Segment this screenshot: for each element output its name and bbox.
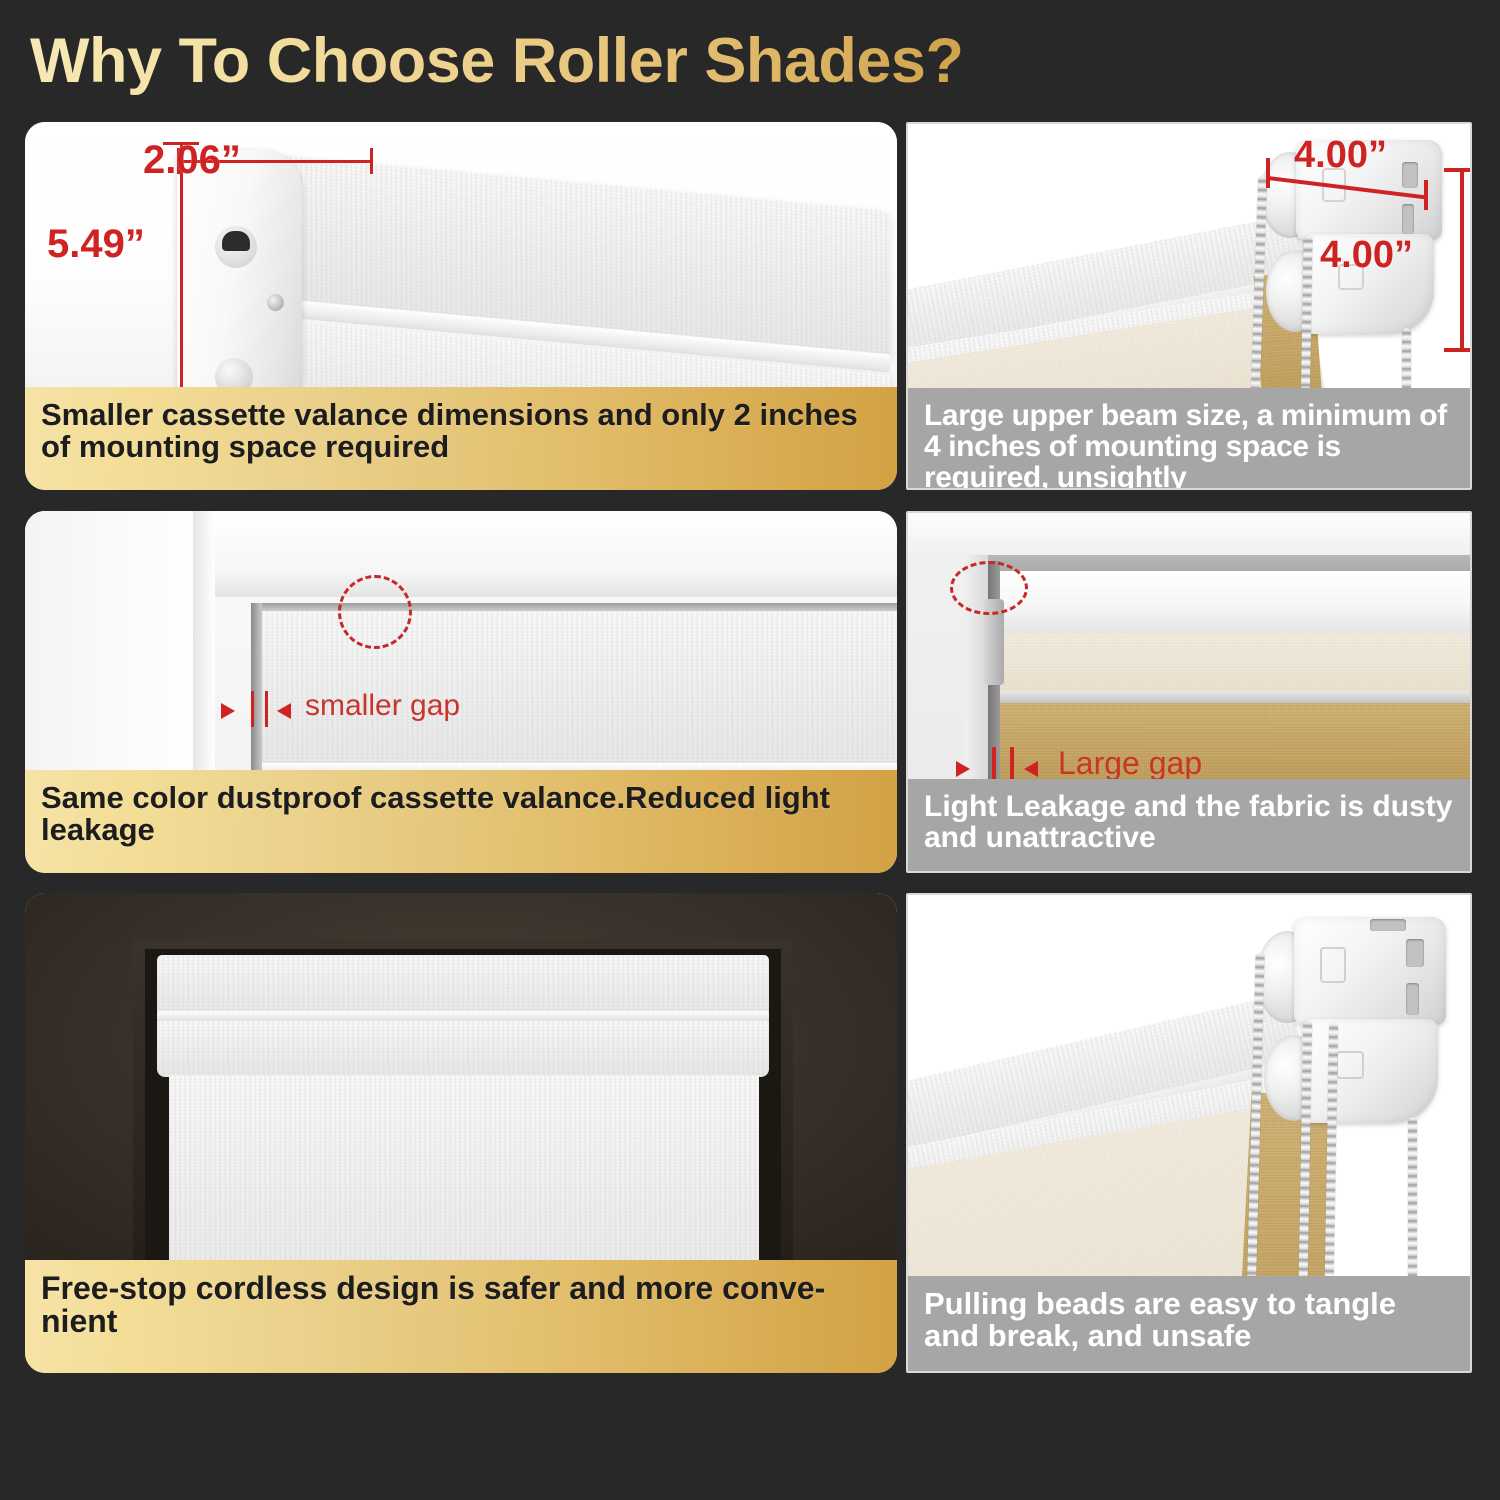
bracket-slot-2: [1402, 204, 1414, 234]
panel-1-caption: Smaller cassette valance dimensions and …: [25, 387, 897, 490]
gap-arrow-left: [956, 761, 970, 777]
gap-tick-b: [1010, 747, 1014, 779]
gap-tick-b: [265, 691, 268, 727]
panel-3-caption: Same color dustproof cassette valance.Re…: [25, 770, 897, 873]
panel-5-caption: Free-stop cordless design is safer and m…: [25, 1260, 897, 1373]
infographic-root: Why To Choose Roller Shades? 5.49”: [0, 0, 1500, 1500]
panel-1-photo: 5.49” 2.06”: [25, 122, 897, 387]
page-title: Why To Choose Roller Shades?: [30, 22, 1130, 100]
bracket-emboss-upper: [1320, 947, 1346, 983]
bracket-slot-3: [1370, 919, 1406, 931]
panel-large-upper-beam: 4.00” 4.00” Large upper beam size, a min…: [906, 122, 1472, 490]
gap-highlight-circle: [338, 575, 412, 649]
width-dim-tick-left: [1266, 158, 1270, 188]
height-dim-label: 5.49”: [47, 222, 145, 267]
wall-top: [908, 513, 1470, 559]
height-dim-line: [1460, 168, 1464, 352]
panel-3-photo: smaller gap: [25, 511, 897, 770]
gap-arrow-right: [1024, 761, 1038, 777]
cassette-head: [157, 955, 769, 1017]
panel-5-photo: [25, 893, 897, 1260]
panel-6-caption: Pulling beads are easy to tangle and bre…: [908, 1276, 1470, 1371]
cassette-end-cap: [177, 150, 302, 387]
width-dim-label: 4.00”: [1294, 134, 1387, 177]
shade-fabric: [169, 1075, 759, 1260]
window-frame-edge: [193, 511, 215, 770]
bracket-slot-2: [1406, 983, 1419, 1015]
panel-6-photo: [908, 895, 1470, 1276]
cassette-lower-roll: [157, 1021, 769, 1077]
panel-light-leakage: Large gap Light Leakage and the fabric i…: [906, 511, 1472, 873]
valance-bottom-lip: [261, 763, 897, 770]
panel-2-caption: Large upper beam size, a minimum of 4 in…: [908, 388, 1470, 488]
panel-2-photo: 4.00” 4.00”: [908, 124, 1470, 388]
panel-4-caption: Light Leakage and the fabric is dusty an…: [908, 779, 1470, 871]
bead-chain-right: [1402, 328, 1411, 388]
gap-arrow-left: [221, 703, 235, 719]
height-dim-label: 4.00”: [1320, 234, 1413, 277]
gap-tick-a: [992, 747, 996, 779]
gap-arrow-right: [277, 703, 291, 719]
gap-tick-a: [251, 691, 254, 727]
bead-chain-right: [1408, 1117, 1417, 1276]
panel-smaller-cassette: 5.49” 2.06” Smaller cassette valance dim…: [25, 122, 897, 490]
height-dim-tick-top: [1444, 168, 1470, 172]
panel-pulling-beads: Pulling beads are easy to tangle and bre…: [906, 893, 1472, 1373]
gap-highlight-circle: [950, 561, 1028, 615]
shade-left-rail: [251, 603, 262, 770]
width-dim-tick-right: [1424, 180, 1428, 210]
window-frame-top: [215, 511, 897, 597]
bracket-slot-1: [1406, 939, 1424, 967]
width-dim-label: 2.06”: [143, 138, 241, 183]
width-dim-tick-right: [370, 148, 373, 174]
window-frame-left: [25, 511, 211, 770]
bracket-slot-1: [1402, 162, 1418, 188]
mounting-bracket-lower: [1302, 1019, 1438, 1123]
height-dim-tick-bottom: [1444, 348, 1470, 352]
panel-4-photo: Large gap: [908, 513, 1470, 779]
gap-label: smaller gap: [305, 689, 460, 723]
bracket-emboss-lower: [1336, 1051, 1364, 1079]
mounting-bracket-upper: [1294, 917, 1446, 1025]
end-cap-screw-upper: [267, 294, 284, 311]
panel-cordless-design: Free-stop cordless design is safer and m…: [25, 893, 897, 1373]
panel-dustproof-valance: smaller gap Same color dustproof cassett…: [25, 511, 897, 873]
cream-band: [998, 633, 1470, 695]
end-cap-pulley: [215, 226, 257, 268]
gap-label: Large gap: [1058, 745, 1202, 779]
